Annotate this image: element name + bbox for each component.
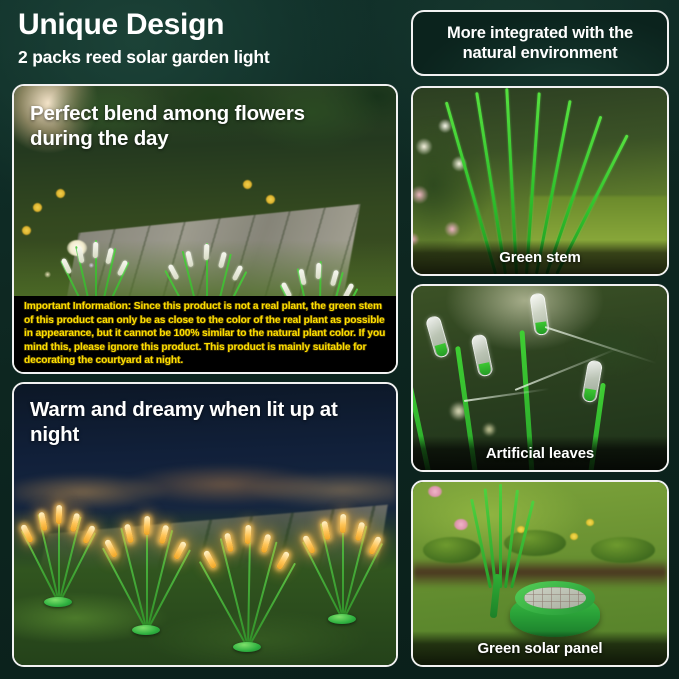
feature-panel-green-stem: Green stem — [411, 86, 669, 276]
lit-reed-light — [106, 519, 186, 631]
page-title: Unique Design — [18, 8, 398, 42]
day-photo-panel: Perfect blend among flowers during the d… — [12, 84, 398, 374]
feature-panel-green-solar-panel: Green solar panel — [411, 480, 669, 667]
lit-reed-light — [304, 516, 380, 620]
headline-box: More integrated with the natural environ… — [411, 10, 669, 76]
lit-reed-light — [22, 507, 94, 603]
night-garden-photo: Warm and dreamy when lit up at night — [14, 384, 396, 665]
day-flower — [266, 195, 275, 204]
day-flower — [22, 226, 31, 235]
night-photo-panel: Warm and dreamy when lit up at night — [12, 382, 398, 667]
solar-light-stems — [413, 482, 667, 588]
solar-panel-disc — [510, 581, 600, 637]
day-caption: Perfect blend among flowers during the d… — [30, 102, 370, 151]
important-information-text: Important Information: Since this produc… — [14, 300, 396, 367]
infographic-page: Unique Design 2 packs reed solar garden … — [0, 0, 679, 679]
header: Unique Design 2 packs reed solar garden … — [18, 8, 398, 68]
page-subtitle: 2 packs reed solar garden light — [18, 47, 398, 68]
feature-caption-green-stem: Green stem — [413, 240, 667, 274]
feature-panel-artificial-leaves: Artificial leaves — [411, 284, 669, 472]
lit-reed-light — [205, 528, 289, 648]
night-caption: Warm and dreamy when lit up at night — [30, 398, 360, 447]
day-flower — [56, 189, 65, 198]
headline-text: More integrated with the natural environ… — [413, 23, 667, 63]
important-information-band: Important Information: Since this produc… — [14, 296, 396, 372]
feature-caption-artificial-leaves: Artificial leaves — [413, 436, 667, 470]
solar-cell — [524, 587, 586, 609]
feature-caption-green-solar-panel: Green solar panel — [413, 631, 667, 665]
